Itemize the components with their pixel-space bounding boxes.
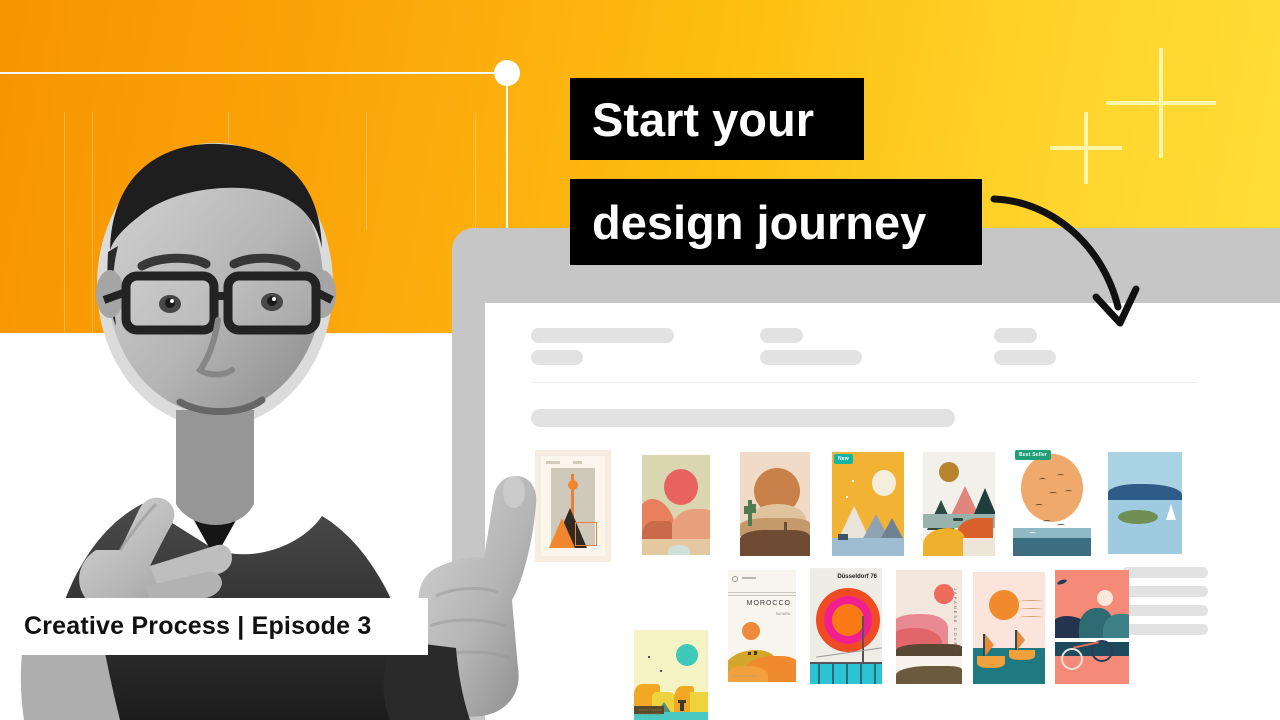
poster-golden-mountain-lake[interactable]: New — [832, 452, 904, 556]
poster-japanese-cover-boats[interactable] — [973, 572, 1045, 684]
headline-line-2: design journey — [570, 179, 982, 265]
sidebar-skeleton-bar — [1122, 624, 1208, 635]
poster-subtitle: SAHARA — [776, 612, 790, 616]
poster-big-sun-birds[interactable]: Best Seller — [1013, 448, 1091, 556]
header-divider — [531, 382, 1198, 383]
poster-yellow-canyon-deer[interactable]: FOREST COURTNATIONAL PARK — [634, 630, 708, 720]
sidebar-skeleton-bar — [1122, 605, 1208, 616]
poster-dusseldorf-76[interactable]: Düsseldorf 76 — [810, 568, 882, 684]
sidebar-skeleton-bar — [1122, 586, 1208, 597]
poster-title: JAPANESE COVER — [953, 588, 958, 654]
headline-line-1: Start your — [570, 78, 864, 160]
poster-badge: New — [834, 454, 853, 464]
header-skeleton-bar — [994, 350, 1056, 365]
header-skeleton-bar — [760, 328, 803, 343]
header-skeleton-bar — [994, 328, 1037, 343]
poster-red-sun-canyon[interactable] — [642, 455, 710, 555]
poster-blue-lake-sailboat[interactable] — [1108, 452, 1182, 554]
plus-mark-icon — [1106, 48, 1216, 158]
poster-title: Düsseldorf 76 — [837, 574, 877, 580]
decor-connector-horizontal — [0, 72, 500, 74]
poster-footer: VISIT MOROCCO — [733, 674, 757, 678]
poster-coral-mountain-bicycle[interactable] — [1055, 570, 1129, 684]
poster-morocco-dunes[interactable]: MOROCCO SAHARA VISIT MOROCCO — [728, 570, 796, 682]
video-thumbnail-stage: New Best Selle — [0, 0, 1280, 720]
episode-caption: Creative Process | Episode 3 — [0, 598, 428, 655]
poster-pastel-hills-boat[interactable] — [923, 452, 995, 556]
poster-desert-cactus-arch[interactable] — [740, 452, 810, 556]
poster-title: MOROCCO — [747, 600, 791, 607]
poster-best-seller-badge: Best Seller — [1015, 450, 1051, 460]
header-skeleton-bar — [760, 350, 862, 365]
poster-caption: FOREST COURTNATIONAL PARK — [638, 708, 662, 716]
curved-down-arrow-icon — [990, 185, 1160, 330]
poster-pink-wave-hills[interactable]: JAPANESE COVER — [896, 570, 962, 684]
sidebar-skeleton-bar — [1122, 567, 1208, 578]
